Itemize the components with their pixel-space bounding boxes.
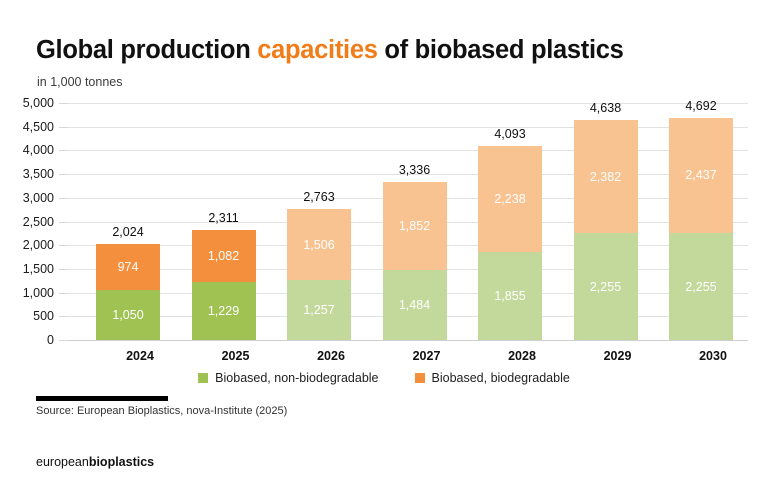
bar-total-label: 2,024 xyxy=(84,225,172,239)
gridline xyxy=(68,340,748,341)
bar-stack[interactable]: 2,2552,3824,638 xyxy=(574,120,638,340)
bar-segment-value: 1,484 xyxy=(383,298,447,312)
y-axis-tick xyxy=(59,150,68,151)
bar-segment-value: 1,082 xyxy=(192,249,256,263)
plot-area: 05001,0001,5002,0002,5003,0003,5004,0004… xyxy=(68,103,748,340)
bar-stack[interactable]: 1,2291,0822,311 xyxy=(192,230,256,340)
chart-page: Global production capacities of biobased… xyxy=(0,0,768,484)
x-axis-label: 2028 xyxy=(478,349,566,363)
bar-segment-value: 1,257 xyxy=(287,303,351,317)
legend-swatch-icon xyxy=(198,373,208,383)
bar-stack[interactable]: 1,8552,2384,093 xyxy=(478,146,542,340)
y-axis-tick xyxy=(59,198,68,199)
bar-segment-biodegradable[interactable]: 974 xyxy=(96,244,160,290)
y-axis-tick xyxy=(59,127,68,128)
x-axis-label: 2027 xyxy=(383,349,471,363)
y-axis-tick xyxy=(59,174,68,175)
y-axis-label: 4,000 xyxy=(23,143,54,157)
y-axis-tick xyxy=(59,103,68,104)
bar-segment-value: 2,255 xyxy=(574,280,638,294)
bar-segment-value: 1,855 xyxy=(478,289,542,303)
bar-segment-non-biodegradable[interactable]: 1,257 xyxy=(287,280,351,340)
bar-stack[interactable]: 1,0509742,024 xyxy=(96,244,160,340)
x-axis-label: 2024 xyxy=(96,349,184,363)
chart-legend: Biobased, non-biodegradableBiobased, bio… xyxy=(0,371,768,385)
y-axis-label: 0 xyxy=(47,333,54,347)
y-axis-label: 3,000 xyxy=(23,191,54,205)
bar-segment-biodegradable[interactable]: 2,238 xyxy=(478,146,542,252)
bar-total-label: 2,311 xyxy=(180,211,268,225)
y-axis-label: 4,500 xyxy=(23,120,54,134)
y-axis-label: 1,000 xyxy=(23,286,54,300)
bar-segment-value: 2,238 xyxy=(478,192,542,206)
bar-segment-value: 2,437 xyxy=(669,168,733,182)
y-axis-tick xyxy=(59,245,68,246)
gridline xyxy=(68,150,748,151)
bar-segment-non-biodegradable[interactable]: 2,255 xyxy=(574,233,638,340)
bar-segment-value: 1,050 xyxy=(96,308,160,322)
chart-subtitle: in 1,000 tonnes xyxy=(37,75,123,89)
bar-total-label: 2,763 xyxy=(275,190,363,204)
bar-segment-non-biodegradable[interactable]: 1,484 xyxy=(383,270,447,340)
x-axis-label: 2030 xyxy=(669,349,757,363)
y-axis-label: 2,000 xyxy=(23,238,54,252)
title-highlight: capacities xyxy=(257,36,377,64)
bar-segment-biodegradable[interactable]: 1,506 xyxy=(287,209,351,280)
bar-total-label: 4,093 xyxy=(466,127,554,141)
legend-label: Biobased, biodegradable xyxy=(432,371,570,385)
y-axis-tick xyxy=(59,293,68,294)
bar-stack[interactable]: 2,2552,4374,692 xyxy=(669,118,733,340)
bar-segment-value: 974 xyxy=(96,260,160,274)
y-axis-label: 2,500 xyxy=(23,215,54,229)
bar-segment-non-biodegradable[interactable]: 1,050 xyxy=(96,290,160,340)
logo-bold: bioplastics xyxy=(89,455,154,469)
bar-segment-value: 1,229 xyxy=(192,304,256,318)
logo-light: european xyxy=(36,455,89,469)
bar-segment-value: 2,255 xyxy=(669,280,733,294)
y-axis-label: 1,500 xyxy=(23,262,54,276)
legend-label: Biobased, non-biodegradable xyxy=(215,371,378,385)
gridline xyxy=(68,127,748,128)
source-rule xyxy=(36,396,168,401)
y-axis-label: 500 xyxy=(33,309,54,323)
bar-segment-value: 2,382 xyxy=(574,170,638,184)
bar-stack[interactable]: 1,2571,5062,763 xyxy=(287,209,351,340)
legend-item[interactable]: Biobased, non-biodegradable xyxy=(198,371,378,385)
bar-segment-biodegradable[interactable]: 1,082 xyxy=(192,230,256,281)
x-axis-label: 2026 xyxy=(287,349,375,363)
bar-total-label: 4,638 xyxy=(562,101,650,115)
bar-total-label: 3,336 xyxy=(371,163,459,177)
legend-swatch-icon xyxy=(415,373,425,383)
y-axis-tick xyxy=(59,222,68,223)
y-axis-tick xyxy=(59,269,68,270)
title-part-2: of biobased plastics xyxy=(378,36,624,64)
legend-item[interactable]: Biobased, biodegradable xyxy=(415,371,570,385)
x-axis-label: 2029 xyxy=(574,349,662,363)
title-part-1: Global production xyxy=(36,36,257,64)
y-axis-tick xyxy=(59,316,68,317)
source-note: Source: European Bioplastics, nova-Insti… xyxy=(36,405,287,417)
bar-total-label: 4,692 xyxy=(657,99,745,113)
brand-logo: europeanbioplastics xyxy=(36,455,154,469)
bar-segment-non-biodegradable[interactable]: 1,855 xyxy=(478,252,542,340)
bar-segment-biodegradable[interactable]: 1,852 xyxy=(383,182,447,270)
bar-segment-non-biodegradable[interactable]: 1,229 xyxy=(192,282,256,340)
y-axis-label: 3,500 xyxy=(23,167,54,181)
x-axis-label: 2025 xyxy=(192,349,280,363)
bar-segment-non-biodegradable[interactable]: 2,255 xyxy=(669,233,733,340)
bar-stack[interactable]: 1,4841,8523,336 xyxy=(383,182,447,340)
page-title: Global production capacities of biobased… xyxy=(36,36,624,65)
bar-segment-value: 1,852 xyxy=(383,219,447,233)
bar-segment-value: 1,506 xyxy=(287,238,351,252)
bar-segment-biodegradable[interactable]: 2,382 xyxy=(574,120,638,233)
bar-segment-biodegradable[interactable]: 2,437 xyxy=(669,118,733,234)
y-axis-tick xyxy=(59,340,68,341)
y-axis-label: 5,000 xyxy=(23,96,54,110)
